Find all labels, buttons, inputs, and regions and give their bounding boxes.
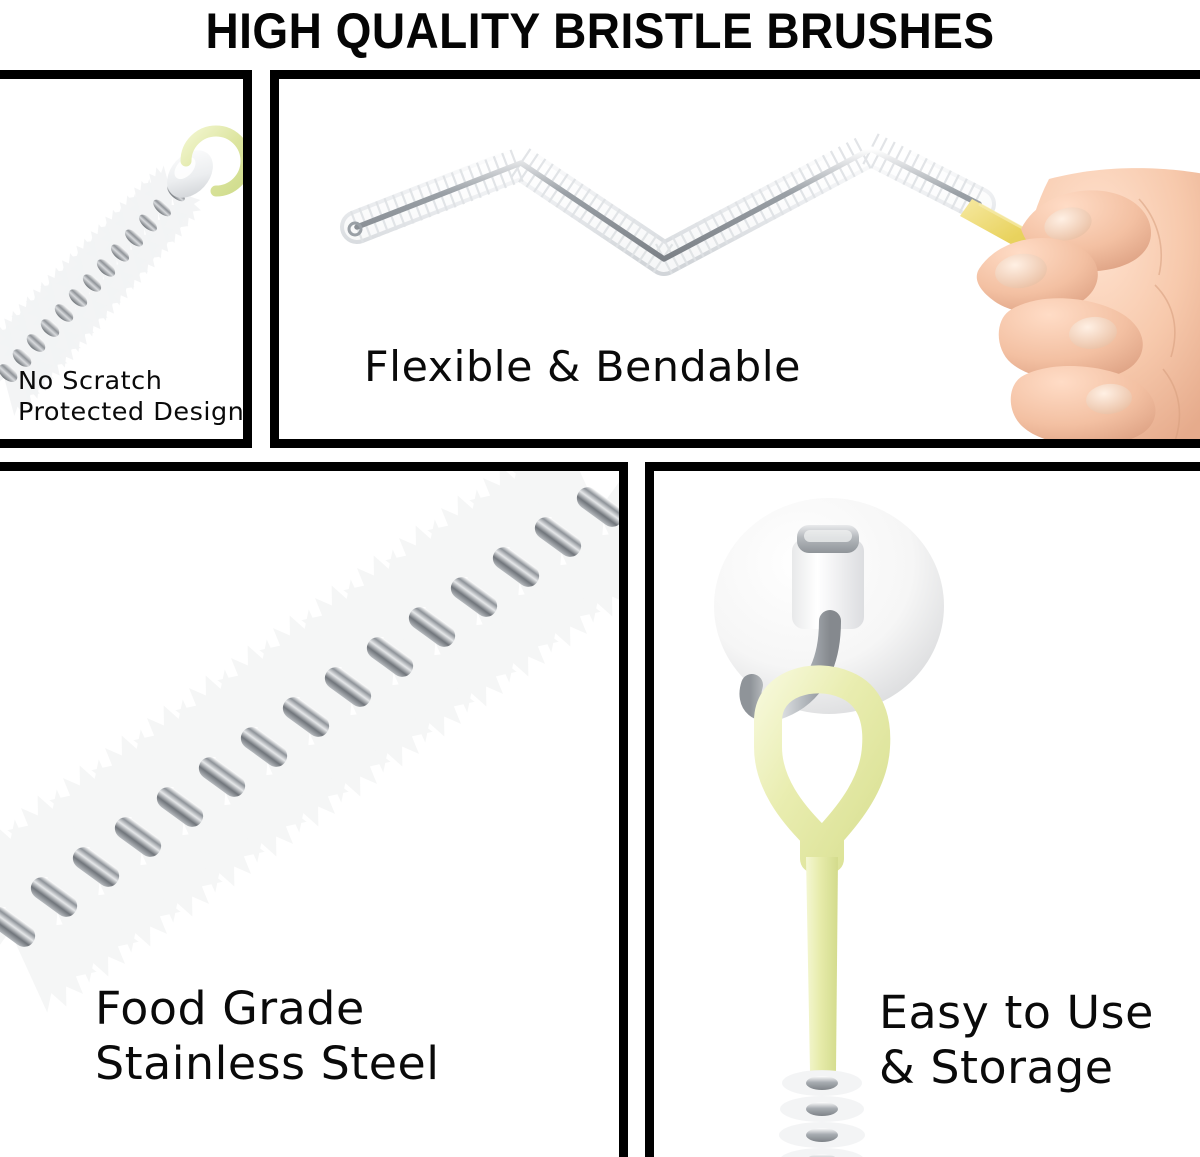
panel-no-scratch: No Scratch Protected Design xyxy=(0,70,252,448)
hand-holding-brush xyxy=(977,168,1200,439)
hanging-brush xyxy=(779,1070,865,1157)
panel-easy-use: Easy to Use & Storage xyxy=(645,462,1200,1157)
infographic-root: HIGH QUALITY BRISTLE BRUSHES xyxy=(0,0,1200,1157)
page-title: HIGH QUALITY BRISTLE BRUSHES xyxy=(48,0,1152,62)
caption-no-scratch: No Scratch Protected Design xyxy=(18,365,244,427)
zigzag-bent-brush xyxy=(349,134,983,274)
caption-easy-use: Easy to Use & Storage xyxy=(879,985,1154,1095)
panel-stainless-steel: Food Grade Stainless Steel xyxy=(0,462,628,1157)
caption-stainless-steel: Food Grade Stainless Steel xyxy=(95,981,440,1091)
yellow-green-loop-handle xyxy=(768,679,876,1071)
caption-flexible: Flexible & Bendable xyxy=(364,343,801,391)
panel-flexible: Flexible & Bendable xyxy=(270,70,1200,448)
